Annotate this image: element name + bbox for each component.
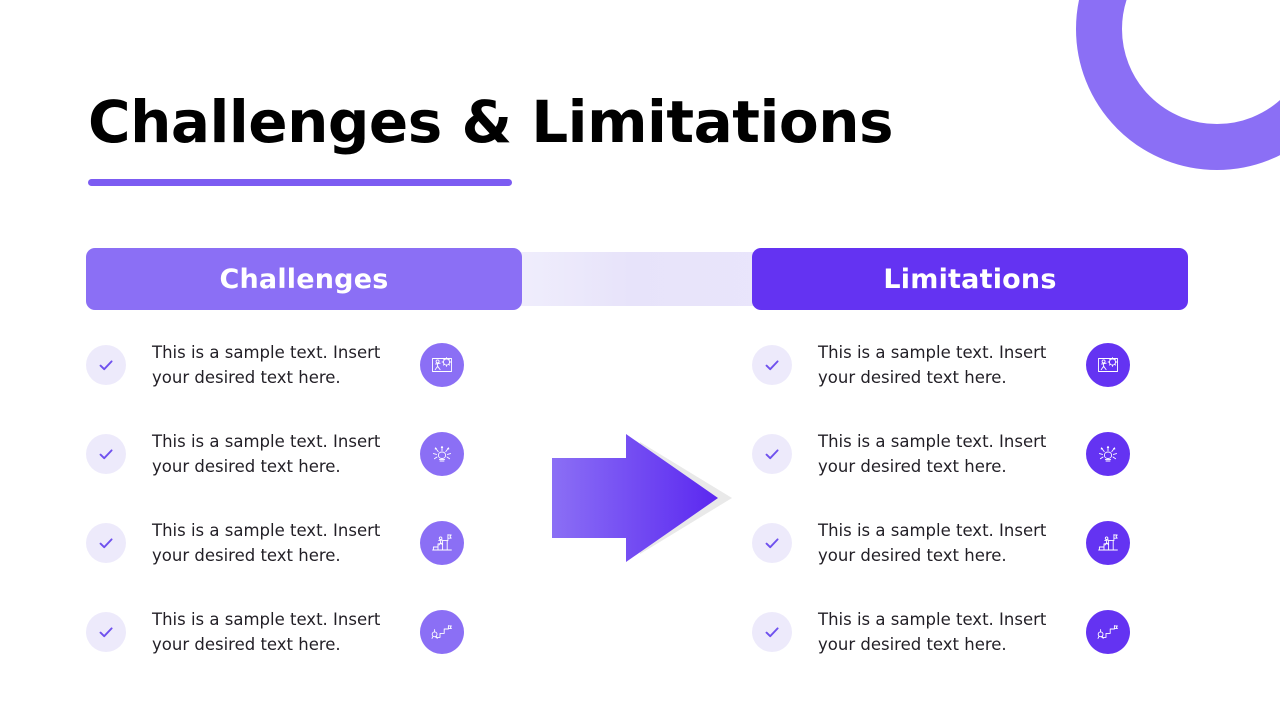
title-block: Challenges & Limitations bbox=[88, 92, 893, 186]
list-item-text: This is a sample text. Insert your desir… bbox=[152, 607, 410, 657]
idea-network-icon bbox=[1086, 432, 1130, 476]
check-icon bbox=[86, 612, 126, 652]
idea-network-icon bbox=[420, 432, 464, 476]
person-gear-icon bbox=[420, 343, 464, 387]
page-title: Challenges & Limitations bbox=[88, 92, 893, 153]
header-bar-limitations[interactable]: Limitations bbox=[752, 248, 1188, 310]
column-headers: Challenges Limitations bbox=[86, 248, 1188, 310]
list-item-text: This is a sample text. Insert your desir… bbox=[152, 429, 410, 479]
corner-ring-decoration bbox=[1076, 0, 1280, 170]
list-item[interactable]: This is a sample text. Insert your desir… bbox=[752, 334, 1188, 396]
check-icon bbox=[752, 345, 792, 385]
right-arrow-graphic bbox=[548, 424, 744, 572]
check-icon bbox=[752, 523, 792, 563]
list-item[interactable]: This is a sample text. Insert your desir… bbox=[752, 512, 1188, 574]
title-underline-rule bbox=[88, 179, 512, 186]
check-icon bbox=[752, 612, 792, 652]
list-item-text: This is a sample text. Insert your desir… bbox=[818, 607, 1076, 657]
stairs-flag-icon bbox=[1086, 521, 1130, 565]
list-item-text: This is a sample text. Insert your desir… bbox=[818, 429, 1076, 479]
list-item-text: This is a sample text. Insert your desir… bbox=[152, 340, 410, 390]
header-label-limitations: Limitations bbox=[883, 264, 1056, 295]
header-label-challenges: Challenges bbox=[219, 264, 388, 295]
path-goal-icon bbox=[1086, 610, 1130, 654]
check-icon bbox=[752, 434, 792, 474]
check-icon bbox=[86, 523, 126, 563]
header-bar-challenges[interactable]: Challenges bbox=[86, 248, 522, 310]
list-item-text: This is a sample text. Insert your desir… bbox=[152, 518, 410, 568]
check-icon bbox=[86, 434, 126, 474]
person-gear-icon bbox=[1086, 343, 1130, 387]
arrow-shape bbox=[552, 434, 718, 562]
list-item[interactable]: This is a sample text. Insert your desir… bbox=[86, 512, 522, 574]
list-item-text: This is a sample text. Insert your desir… bbox=[818, 340, 1076, 390]
header-middle-strip bbox=[516, 252, 768, 306]
check-icon bbox=[86, 345, 126, 385]
stairs-flag-icon bbox=[420, 521, 464, 565]
list-item[interactable]: This is a sample text. Insert your desir… bbox=[86, 601, 522, 663]
list-item[interactable]: This is a sample text. Insert your desir… bbox=[752, 423, 1188, 485]
list-item[interactable]: This is a sample text. Insert your desir… bbox=[86, 334, 522, 396]
path-goal-icon bbox=[420, 610, 464, 654]
list-item[interactable]: This is a sample text. Insert your desir… bbox=[86, 423, 522, 485]
list-item-text: This is a sample text. Insert your desir… bbox=[818, 518, 1076, 568]
list-item[interactable]: This is a sample text. Insert your desir… bbox=[752, 601, 1188, 663]
